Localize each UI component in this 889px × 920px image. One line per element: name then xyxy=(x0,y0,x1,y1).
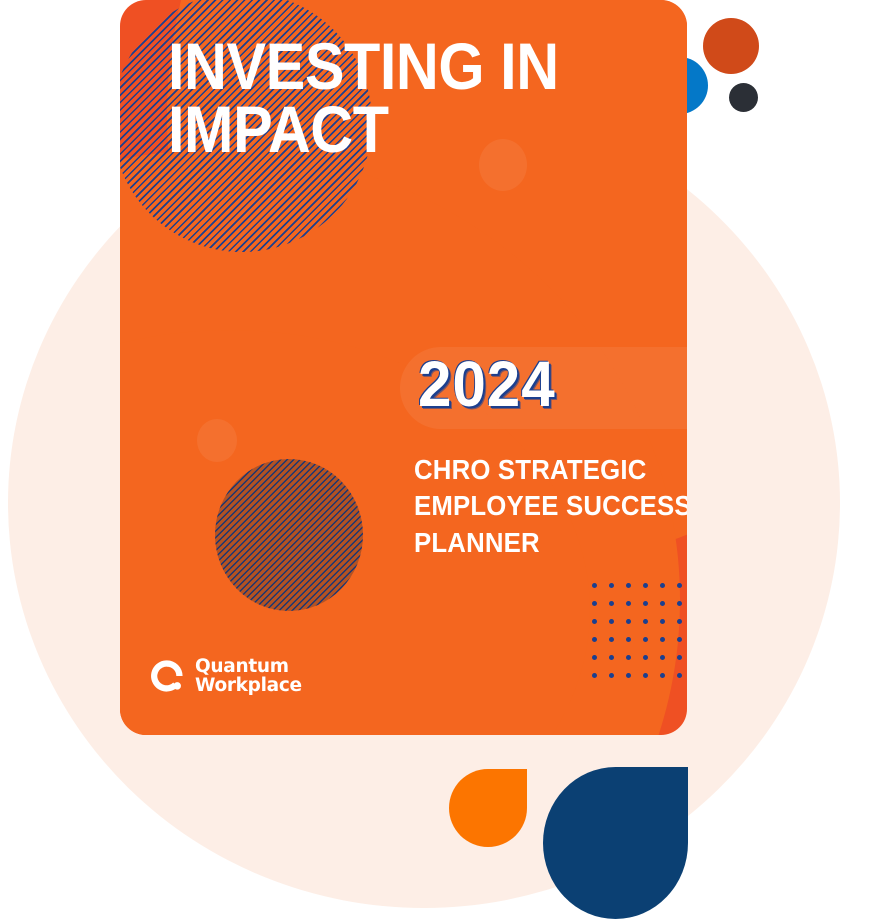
grid-dot xyxy=(643,601,648,606)
grid-dot xyxy=(660,583,665,588)
grid-dot xyxy=(609,655,614,660)
logo-word-2: Workplace xyxy=(195,676,302,695)
grid-dot xyxy=(592,601,597,606)
grid-dot xyxy=(677,637,682,642)
grid-dot xyxy=(626,619,631,624)
cover-year: 2024 xyxy=(418,352,556,416)
cover-headline: INVESTING IN IMPACT xyxy=(168,35,546,160)
subtitle-line-1: CHRO STRATEGIC xyxy=(414,452,653,488)
logo-word-1: Quantum xyxy=(195,657,302,676)
cover-illustration-stage: INVESTING IN IMPACT 2024 CHRO STRATEGIC … xyxy=(0,0,889,920)
subtitle-line-2: EMPLOYEE SUCCESS xyxy=(414,488,653,524)
diagonal-stripe-circle-middle xyxy=(215,459,363,611)
grid-dot xyxy=(660,601,665,606)
grid-dot xyxy=(660,655,665,660)
grid-dot xyxy=(609,583,614,588)
headline-line-2: IMPACT xyxy=(168,98,546,161)
grid-dot xyxy=(592,637,597,642)
grid-dot xyxy=(592,655,597,660)
orange-droplet xyxy=(449,769,527,847)
grid-dot xyxy=(660,637,665,642)
grid-dot xyxy=(677,619,682,624)
quantum-workplace-logo: Quantum Workplace xyxy=(148,657,302,695)
grid-dot xyxy=(677,673,682,678)
grid-dot xyxy=(643,637,648,642)
grid-dot xyxy=(626,637,631,642)
cover-subtitle: CHRO STRATEGIC EMPLOYEE SUCCESS PLANNER xyxy=(414,452,653,561)
grid-dot xyxy=(677,601,682,606)
grid-dot xyxy=(643,673,648,678)
quantum-workplace-mark-icon xyxy=(148,657,186,695)
grid-dot xyxy=(660,619,665,624)
logo-wordmark: Quantum Workplace xyxy=(195,657,302,695)
grid-dot xyxy=(643,583,648,588)
grid-dot xyxy=(677,583,682,588)
grid-dot xyxy=(660,673,665,678)
grid-dot xyxy=(626,655,631,660)
grid-dot xyxy=(626,601,631,606)
grid-dot xyxy=(643,619,648,624)
grid-dot xyxy=(609,637,614,642)
grid-dot xyxy=(592,583,597,588)
grid-dot xyxy=(626,673,631,678)
navy-dot-grid xyxy=(592,583,687,675)
charcoal-circle xyxy=(729,83,758,112)
grid-dot xyxy=(626,583,631,588)
grid-dot xyxy=(592,673,597,678)
grid-dot xyxy=(609,601,614,606)
headline-line-1: INVESTING IN xyxy=(168,35,546,98)
ebook-cover-card[interactable]: INVESTING IN IMPACT 2024 CHRO STRATEGIC … xyxy=(120,0,687,735)
grid-dot xyxy=(677,655,682,660)
grid-dot xyxy=(609,673,614,678)
dark-orange-circle xyxy=(703,18,759,74)
grid-dot xyxy=(609,619,614,624)
soft-translucent-circle-lower xyxy=(197,419,237,462)
subtitle-line-3: PLANNER xyxy=(414,525,653,561)
navy-droplet xyxy=(543,767,688,919)
grid-dot xyxy=(643,655,648,660)
grid-dot xyxy=(592,619,597,624)
